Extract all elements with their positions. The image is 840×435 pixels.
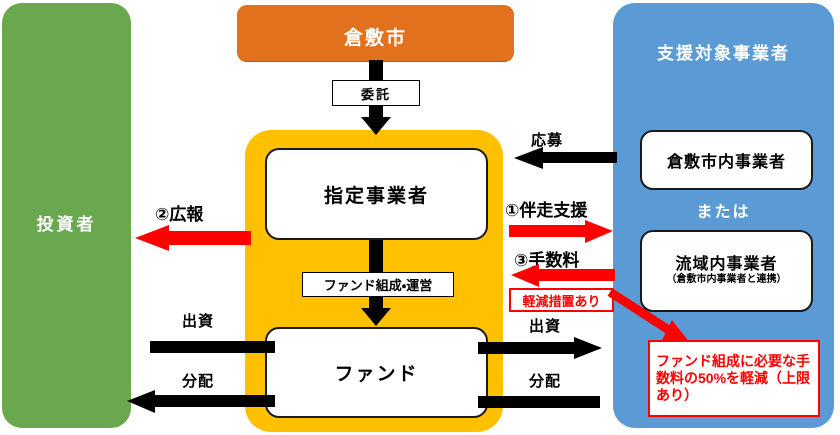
label-bunpai-right: 分配 — [529, 370, 561, 391]
arrow-bansou — [509, 220, 615, 244]
arrow-kouhou — [131, 225, 251, 253]
box-reduction-measure-tag-label: 軽減措置あり — [522, 291, 600, 310]
box-itaku: 委託 — [332, 80, 420, 106]
label-shusshi-left: 出資 — [182, 310, 214, 331]
box-basin-business-sublabel: （倉敷市内事業者と連携） — [667, 274, 787, 286]
panel-kurashiki-city: 倉敷市 — [237, 5, 514, 61]
label-bunpai-left: 分配 — [182, 370, 214, 391]
box-fund-label: ファンド — [334, 359, 418, 386]
box-city-business: 倉敷市内事業者 — [640, 130, 813, 190]
diagram-canvas: 投資者 支援対象事業者 倉敷市 委託 指定事業者 ファンド組成・運営 ファンド … — [0, 0, 840, 435]
arrow-shusshi-right — [478, 338, 603, 360]
box-basin-business: 流域内事業者 （倉敷市内事業者と連携） — [640, 230, 813, 312]
label-matawa: または — [613, 198, 834, 222]
arrow-shusshi-left — [150, 338, 275, 358]
panel-investor: 投資者 — [2, 3, 131, 428]
box-fund-formation: ファンド組成・運営 — [302, 272, 454, 297]
box-reduction-note: ファンド組成に必要な手数料の50%を軽減（上限あり） — [648, 340, 820, 417]
panel-kurashiki-city-label: 倉敷市 — [237, 23, 514, 50]
arrow-bunpai-left — [125, 390, 275, 414]
panel-investor-label: 投資者 — [2, 210, 131, 235]
box-fund-formation-label: ファンド組成・運営 — [324, 275, 432, 294]
box-city-business-label: 倉敷市内事業者 — [667, 148, 786, 172]
label-bansou: ①伴走支援 — [505, 196, 587, 221]
box-itaku-label: 委託 — [361, 84, 391, 103]
arrow-designated-to-fundop — [362, 240, 390, 274]
box-designated-operator-label: 指定事業者 — [324, 181, 429, 208]
box-basin-business-label: 流域内事業者 — [675, 256, 777, 274]
arrow-fundop-to-fund — [360, 296, 392, 328]
box-fund: ファンド — [265, 327, 488, 418]
box-reduction-measure-tag: 軽減措置あり — [509, 288, 614, 312]
label-shusshi-right: 出資 — [529, 315, 561, 336]
box-designated-operator: 指定事業者 — [265, 148, 488, 240]
panel-support-target-label: 支援対象事業者 — [613, 39, 834, 64]
box-reduction-note-label: ファンド組成に必要な手数料の50%を軽減（上限あり） — [656, 353, 818, 404]
arrow-oubo — [511, 147, 617, 171]
label-kouhou: ②広報 — [155, 200, 203, 225]
arrow-bunpai-right — [478, 393, 603, 411]
arrow-tesuuryou — [509, 264, 615, 288]
